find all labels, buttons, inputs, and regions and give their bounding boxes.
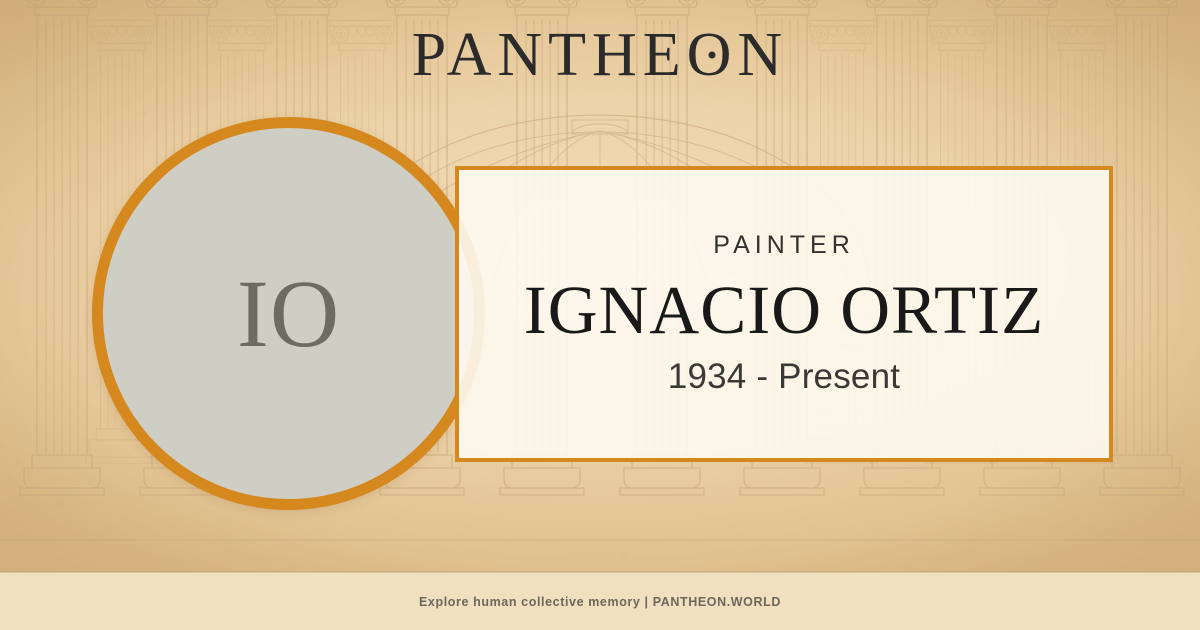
footer-tagline: Explore human collective memory | PANTHE… bbox=[0, 573, 1200, 630]
lifespan-dates: 1934 - Present bbox=[668, 357, 900, 397]
brand-text-after: N bbox=[737, 21, 788, 89]
occupation-label: PAINTER bbox=[713, 231, 855, 260]
avatar[interactable]: IO bbox=[92, 117, 485, 510]
page-title: PANTHEON bbox=[0, 24, 1200, 86]
brand-text-before: PANTHE bbox=[412, 21, 687, 89]
avatar-initials: IO bbox=[237, 266, 340, 362]
pantheon-profile-card: PANTHEON IO PAINTER IGNACIO ORTIZ 1934 -… bbox=[0, 0, 1200, 630]
person-name: IGNACIO ORTIZ bbox=[524, 274, 1045, 346]
profile-card: PAINTER IGNACIO ORTIZ 1934 - Present bbox=[455, 166, 1113, 462]
brand-oculus-icon: O bbox=[687, 24, 738, 86]
